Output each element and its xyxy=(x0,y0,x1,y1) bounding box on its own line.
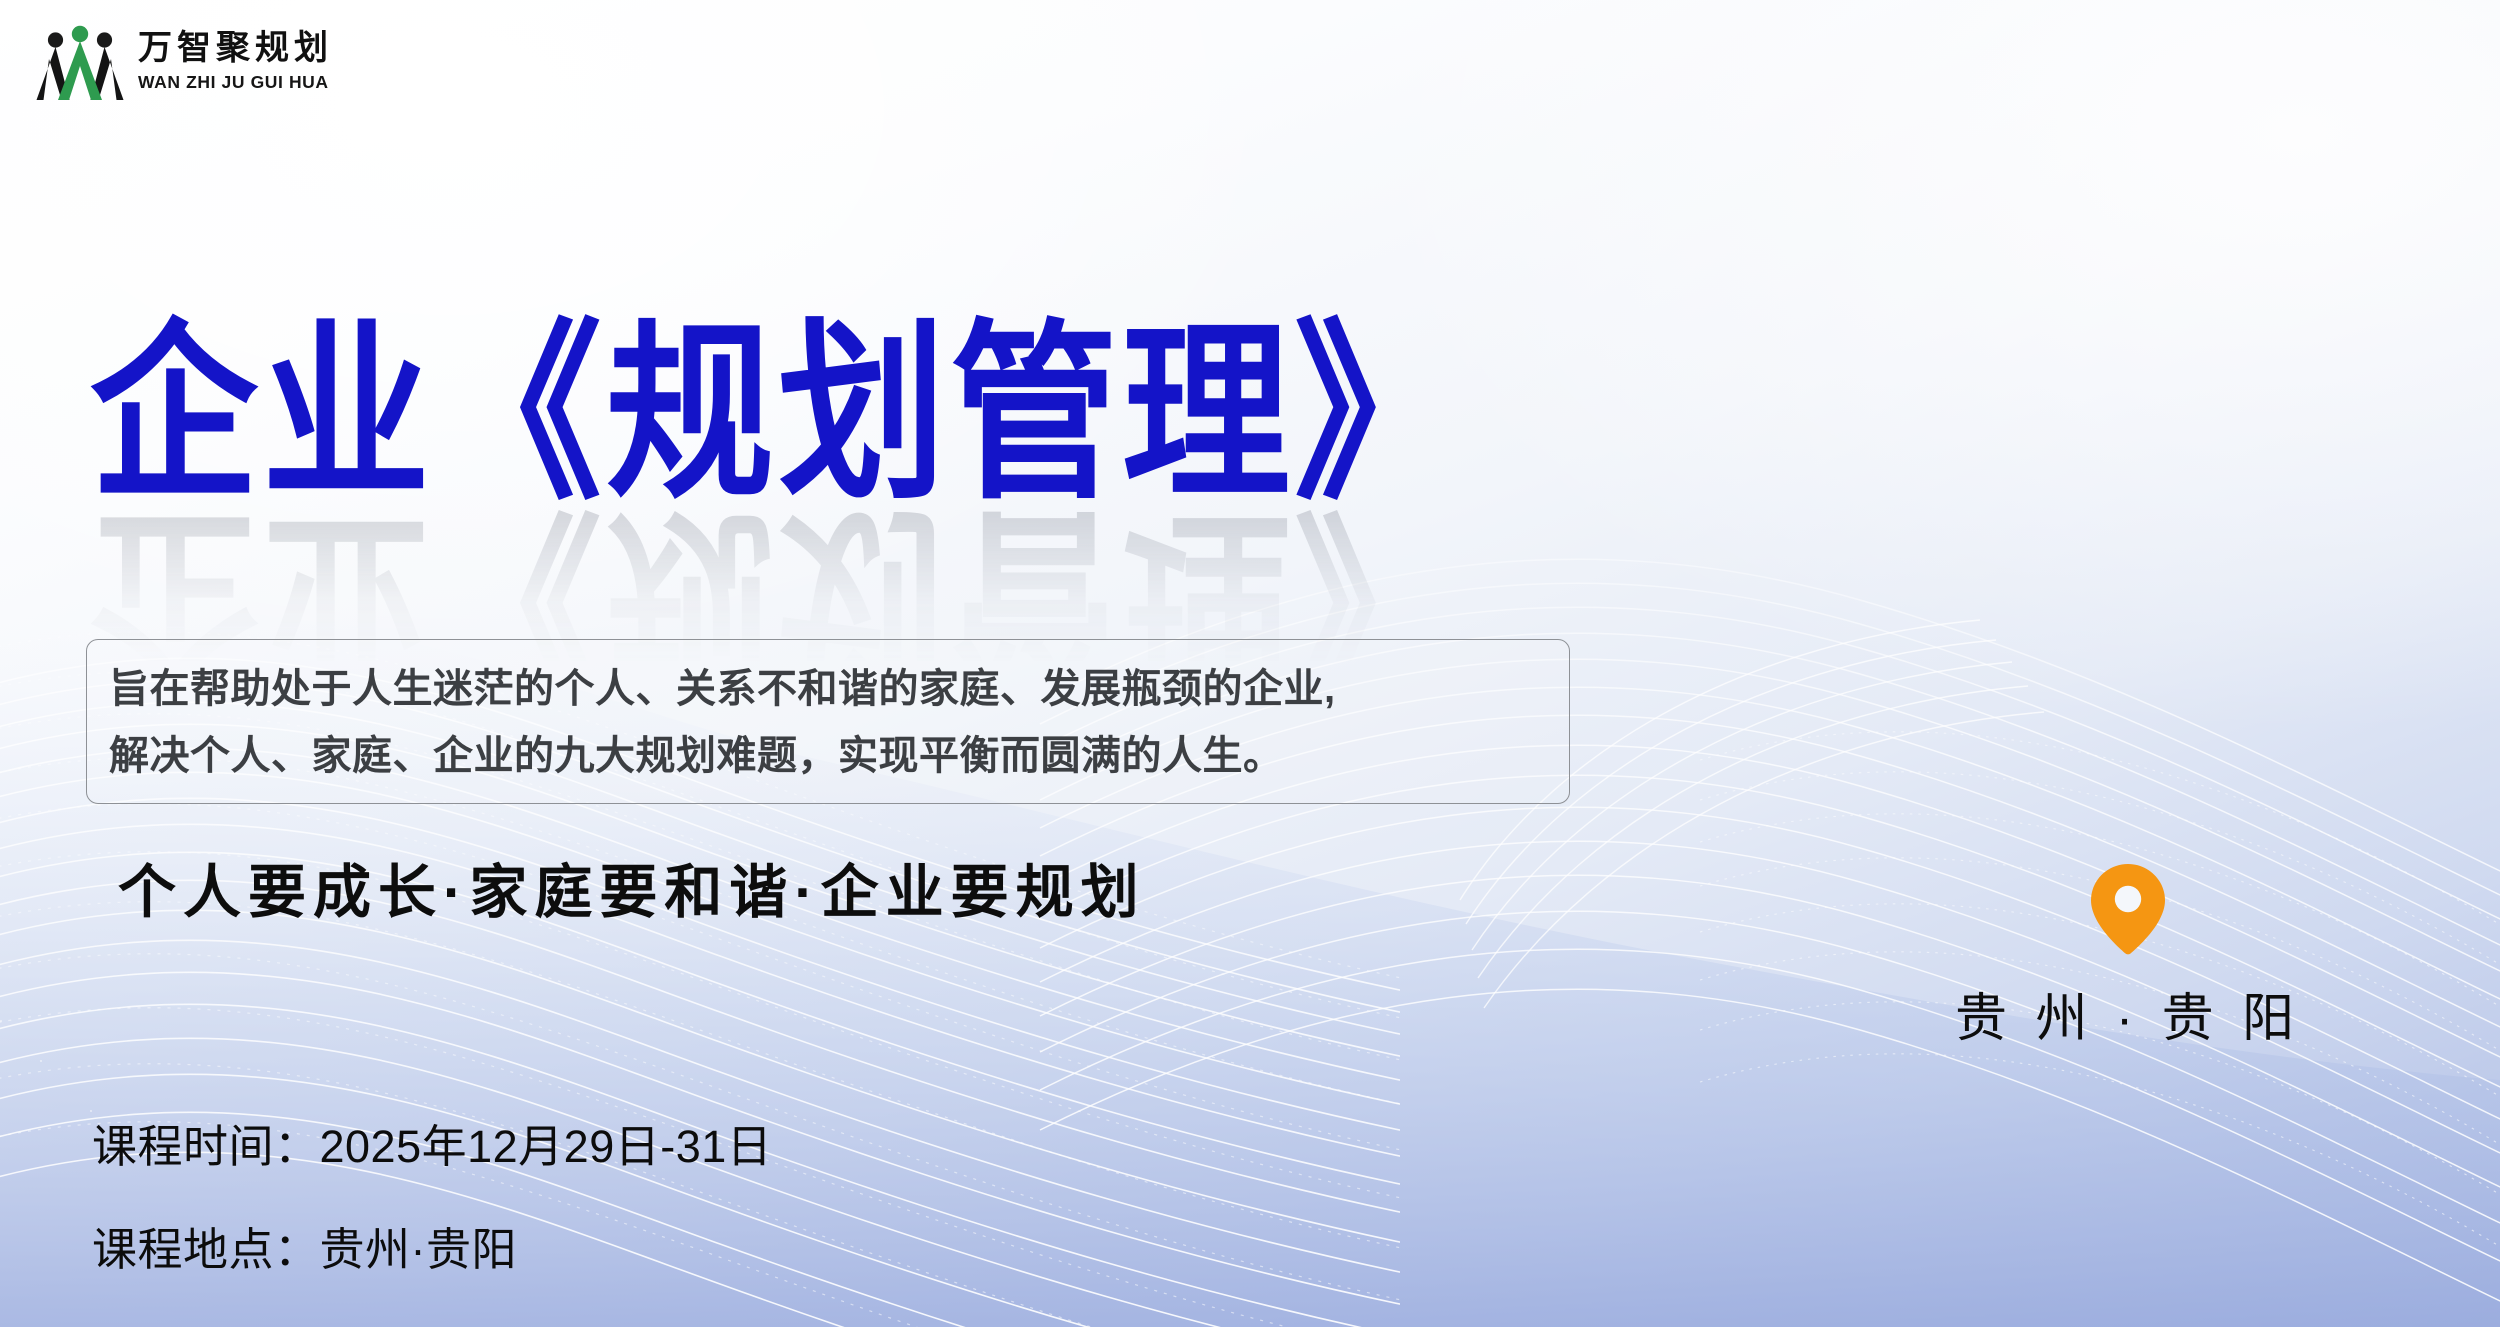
brand-name-pinyin: WAN ZHI JU GUI HUA xyxy=(138,72,333,93)
map-pin-icon xyxy=(2087,862,2169,956)
description-line-2: 解决个人、家庭、企业的九大规划难题，实现平衡而圆满的人生。 xyxy=(109,723,1543,790)
slogan-text: 个人要成长·家庭要和谐·企业要规划 xyxy=(118,845,1146,929)
poster-canvas: 万智聚规划 WAN ZHI JU GUI HUA 企业《规划管理》 企业《规划管… xyxy=(0,0,2500,1327)
brand-logo-text: 万智聚规划 WAN ZHI JU GUI HUA xyxy=(138,27,333,93)
description-box: 旨在帮助处于人生迷茫的个人、关系不和谐的家庭、发展瓶颈的企业, 解决个人、家庭、… xyxy=(86,639,1570,804)
course-place: 课程地点：贵州·贵阳 xyxy=(92,1213,772,1278)
location-label: 贵 州 · 贵 阳 xyxy=(1955,976,2301,1051)
course-info-block: 课程时间：2025年12月29日-31日 课程地点：贵州·贵阳 xyxy=(92,1110,772,1278)
brand-name-cn: 万智聚规划 xyxy=(138,31,333,68)
three-people-logo-icon xyxy=(36,14,124,106)
location-badge: 贵 州 · 贵 阳 xyxy=(1955,862,2301,1051)
brand-logo[interactable]: 万智聚规划 WAN ZHI JU GUI HUA xyxy=(36,14,333,106)
page-title: 企业《规划管理》 xyxy=(90,318,1466,510)
description-line-1: 旨在帮助处于人生迷茫的个人、关系不和谐的家庭、发展瓶颈的企业, xyxy=(109,656,1543,723)
course-time: 课程时间：2025年12月29日-31日 xyxy=(92,1110,772,1175)
